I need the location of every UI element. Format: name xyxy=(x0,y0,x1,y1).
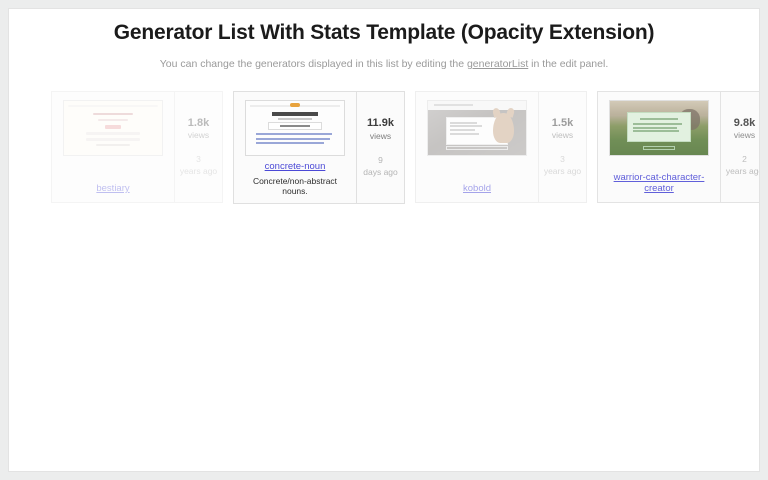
generator-title-link[interactable]: bestiary xyxy=(96,178,129,195)
views-label: views xyxy=(734,130,755,141)
generator-stats: 9.8k views 2 years ago xyxy=(720,92,760,202)
page-subtitle: You can change the generators displayed … xyxy=(9,58,759,70)
age-unit: years ago xyxy=(544,166,581,176)
thumbnail-art xyxy=(64,101,162,155)
generator-card[interactable]: kobold 1.5k views 3 years ago xyxy=(415,91,587,203)
views-count: 11.9k xyxy=(367,117,394,131)
kobold-thumbnail[interactable] xyxy=(427,100,527,156)
subtitle-text-before: You can change the generators displayed … xyxy=(160,58,467,70)
thumbnail-art xyxy=(428,101,526,155)
generator-card[interactable]: warrior-cat-character-creator 9.8k views… xyxy=(597,91,760,203)
age-stat: 9 days ago xyxy=(363,155,398,178)
generator-card-main: kobold xyxy=(416,92,538,202)
generator-title-link[interactable]: concrete-noun xyxy=(265,156,326,173)
generator-card-main: bestiary xyxy=(52,92,174,202)
age-number: 3 xyxy=(180,154,217,165)
views-label: views xyxy=(552,130,573,141)
views-count: 1.8k xyxy=(188,117,209,131)
page-panel: Generator List With Stats Template (Opac… xyxy=(8,8,760,472)
age-stat: 2 years ago xyxy=(726,154,760,177)
bestiary-thumbnail[interactable] xyxy=(63,100,163,156)
generator-title-link[interactable]: kobold xyxy=(463,178,491,195)
age-number: 2 xyxy=(726,154,760,165)
age-stat: 3 years ago xyxy=(544,154,581,177)
generator-card-main: concrete-noun Concrete/non-abstract noun… xyxy=(234,92,356,203)
views-label: views xyxy=(188,130,209,141)
generator-stats: 1.5k views 3 years ago xyxy=(538,92,586,202)
age-number: 3 xyxy=(544,154,581,165)
generator-card-main: warrior-cat-character-creator xyxy=(598,92,720,202)
age-number: 9 xyxy=(363,155,398,166)
thumbnail-art xyxy=(246,101,344,155)
age-unit: years ago xyxy=(726,166,760,176)
warrior-cat-thumbnail[interactable] xyxy=(609,100,709,156)
generator-description: Concrete/non-abstract nouns. xyxy=(240,176,350,196)
generator-card[interactable]: bestiary 1.8k views 3 years ago xyxy=(51,91,223,203)
views-count: 9.8k xyxy=(734,117,755,131)
subtitle-text-after: in the edit panel. xyxy=(528,58,608,70)
generator-stats: 1.8k views 3 years ago xyxy=(174,92,222,202)
generator-stats: 11.9k views 9 days ago xyxy=(356,92,404,203)
concrete-noun-thumbnail[interactable] xyxy=(245,100,345,156)
thumbnail-art xyxy=(610,101,708,155)
views-count: 1.5k xyxy=(552,117,573,131)
generator-list-link[interactable]: generatorList xyxy=(467,58,528,70)
age-unit: days ago xyxy=(363,167,398,177)
age-stat: 3 years ago xyxy=(180,154,217,177)
generator-title-link[interactable]: warrior-cat-character-creator xyxy=(604,167,714,195)
page-title: Generator List With Stats Template (Opac… xyxy=(9,21,759,45)
age-unit: years ago xyxy=(180,166,217,176)
views-label: views xyxy=(370,131,391,142)
generator-list: bestiary 1.8k views 3 years ago xyxy=(9,91,759,204)
generator-card[interactable]: concrete-noun Concrete/non-abstract noun… xyxy=(233,91,405,204)
